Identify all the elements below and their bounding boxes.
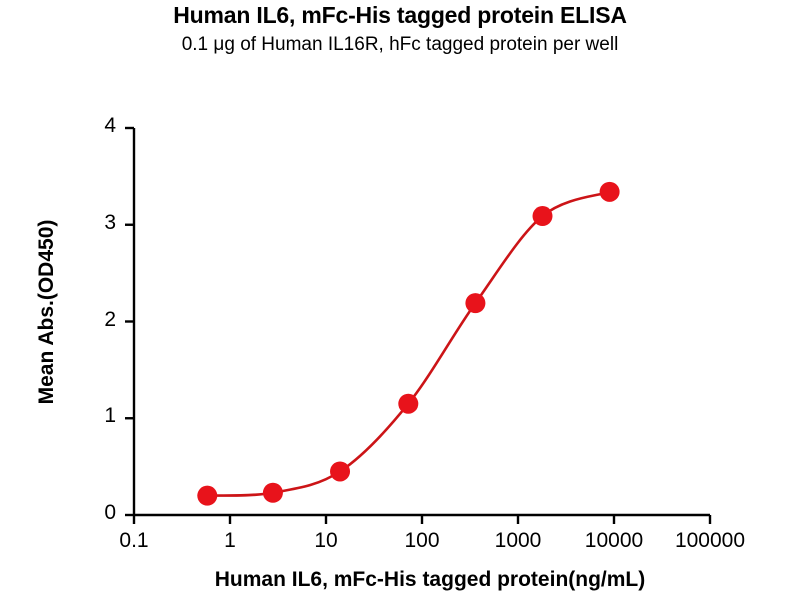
data-point-marker (533, 206, 553, 226)
data-point-marker (465, 293, 485, 313)
chart-figure: Human IL6, mFc-His tagged protein ELISA … (0, 0, 800, 600)
axes (125, 128, 710, 524)
data-point-marker (330, 461, 350, 481)
data-curve (207, 192, 609, 496)
data-point-marker (398, 394, 418, 414)
plot-area (0, 0, 800, 600)
data-markers (197, 182, 619, 506)
data-point-marker (263, 483, 283, 503)
data-point-marker (600, 182, 620, 202)
data-point-marker (197, 486, 217, 506)
